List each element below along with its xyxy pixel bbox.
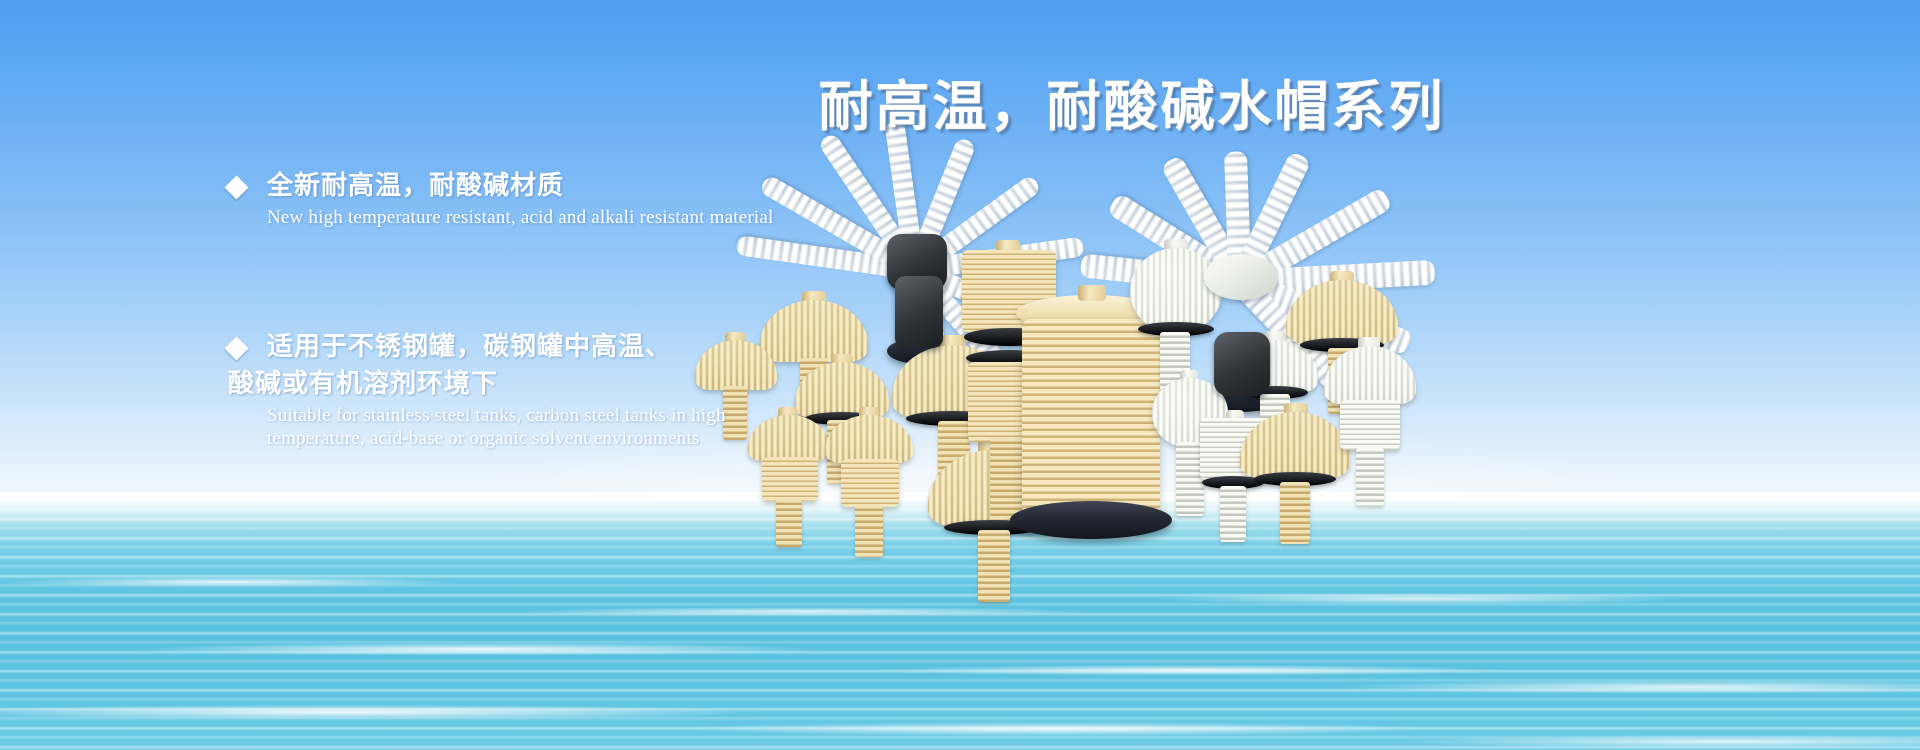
feature-item: 适用于不锈钢罐，碳钢罐中高温、 酸碱或有机溶剂环境下 Suitable for … (228, 329, 968, 450)
nozzle-disc-stack (762, 457, 818, 501)
nozzle-stem (855, 505, 883, 557)
nozzle-disc-stack (841, 459, 899, 507)
nozzle-stem (978, 530, 1010, 602)
cylinder-flange-base (1010, 501, 1172, 539)
feature-title-cn: 全新耐高温，耐酸碱材质 (267, 168, 968, 205)
feature-desc-en: New high temperature resistant, acid and… (267, 206, 968, 229)
nozzle-stem (990, 438, 1024, 520)
feature-item: 全新耐高温，耐酸碱材质 New high temperature resista… (228, 168, 968, 229)
diamond-bullet-icon (224, 336, 248, 360)
cylinder-body (1022, 319, 1160, 515)
nozzle-stem (776, 499, 802, 547)
nozzle-stem (1356, 448, 1384, 506)
feature-desc-en-line1: Suitable for stainless steel tanks, carb… (267, 404, 968, 427)
water-highlight-bands (0, 540, 1920, 750)
feature-title-cn-line1: 适用于不锈钢罐，碳钢罐中高温、 (267, 329, 968, 366)
nozzle-hub-cap (1204, 254, 1278, 300)
nozzle-stem (1280, 482, 1310, 544)
feature-list: 全新耐高温，耐酸碱材质 New high temperature resista… (228, 168, 968, 450)
page-title: 耐高温，耐酸碱水帽系列 (812, 62, 1452, 141)
cylinder-knob (1078, 285, 1106, 301)
nozzle-disc-stack (1340, 400, 1400, 450)
nozzle-stem (1220, 486, 1246, 542)
feature-title-cn-line2: 酸碱或有机溶剂环境下 (228, 366, 968, 403)
feature-desc-en-line2: temperature, acid-base or organic solven… (267, 427, 968, 450)
nozzle-hub-dark-lower (895, 276, 943, 348)
nozzle-hub-dark (1214, 332, 1270, 396)
diamond-bullet-icon (224, 175, 248, 199)
promo-banner: 耐高温，耐酸碱水帽系列 全新耐高温，耐酸碱材质 New high tempera… (0, 0, 1920, 750)
